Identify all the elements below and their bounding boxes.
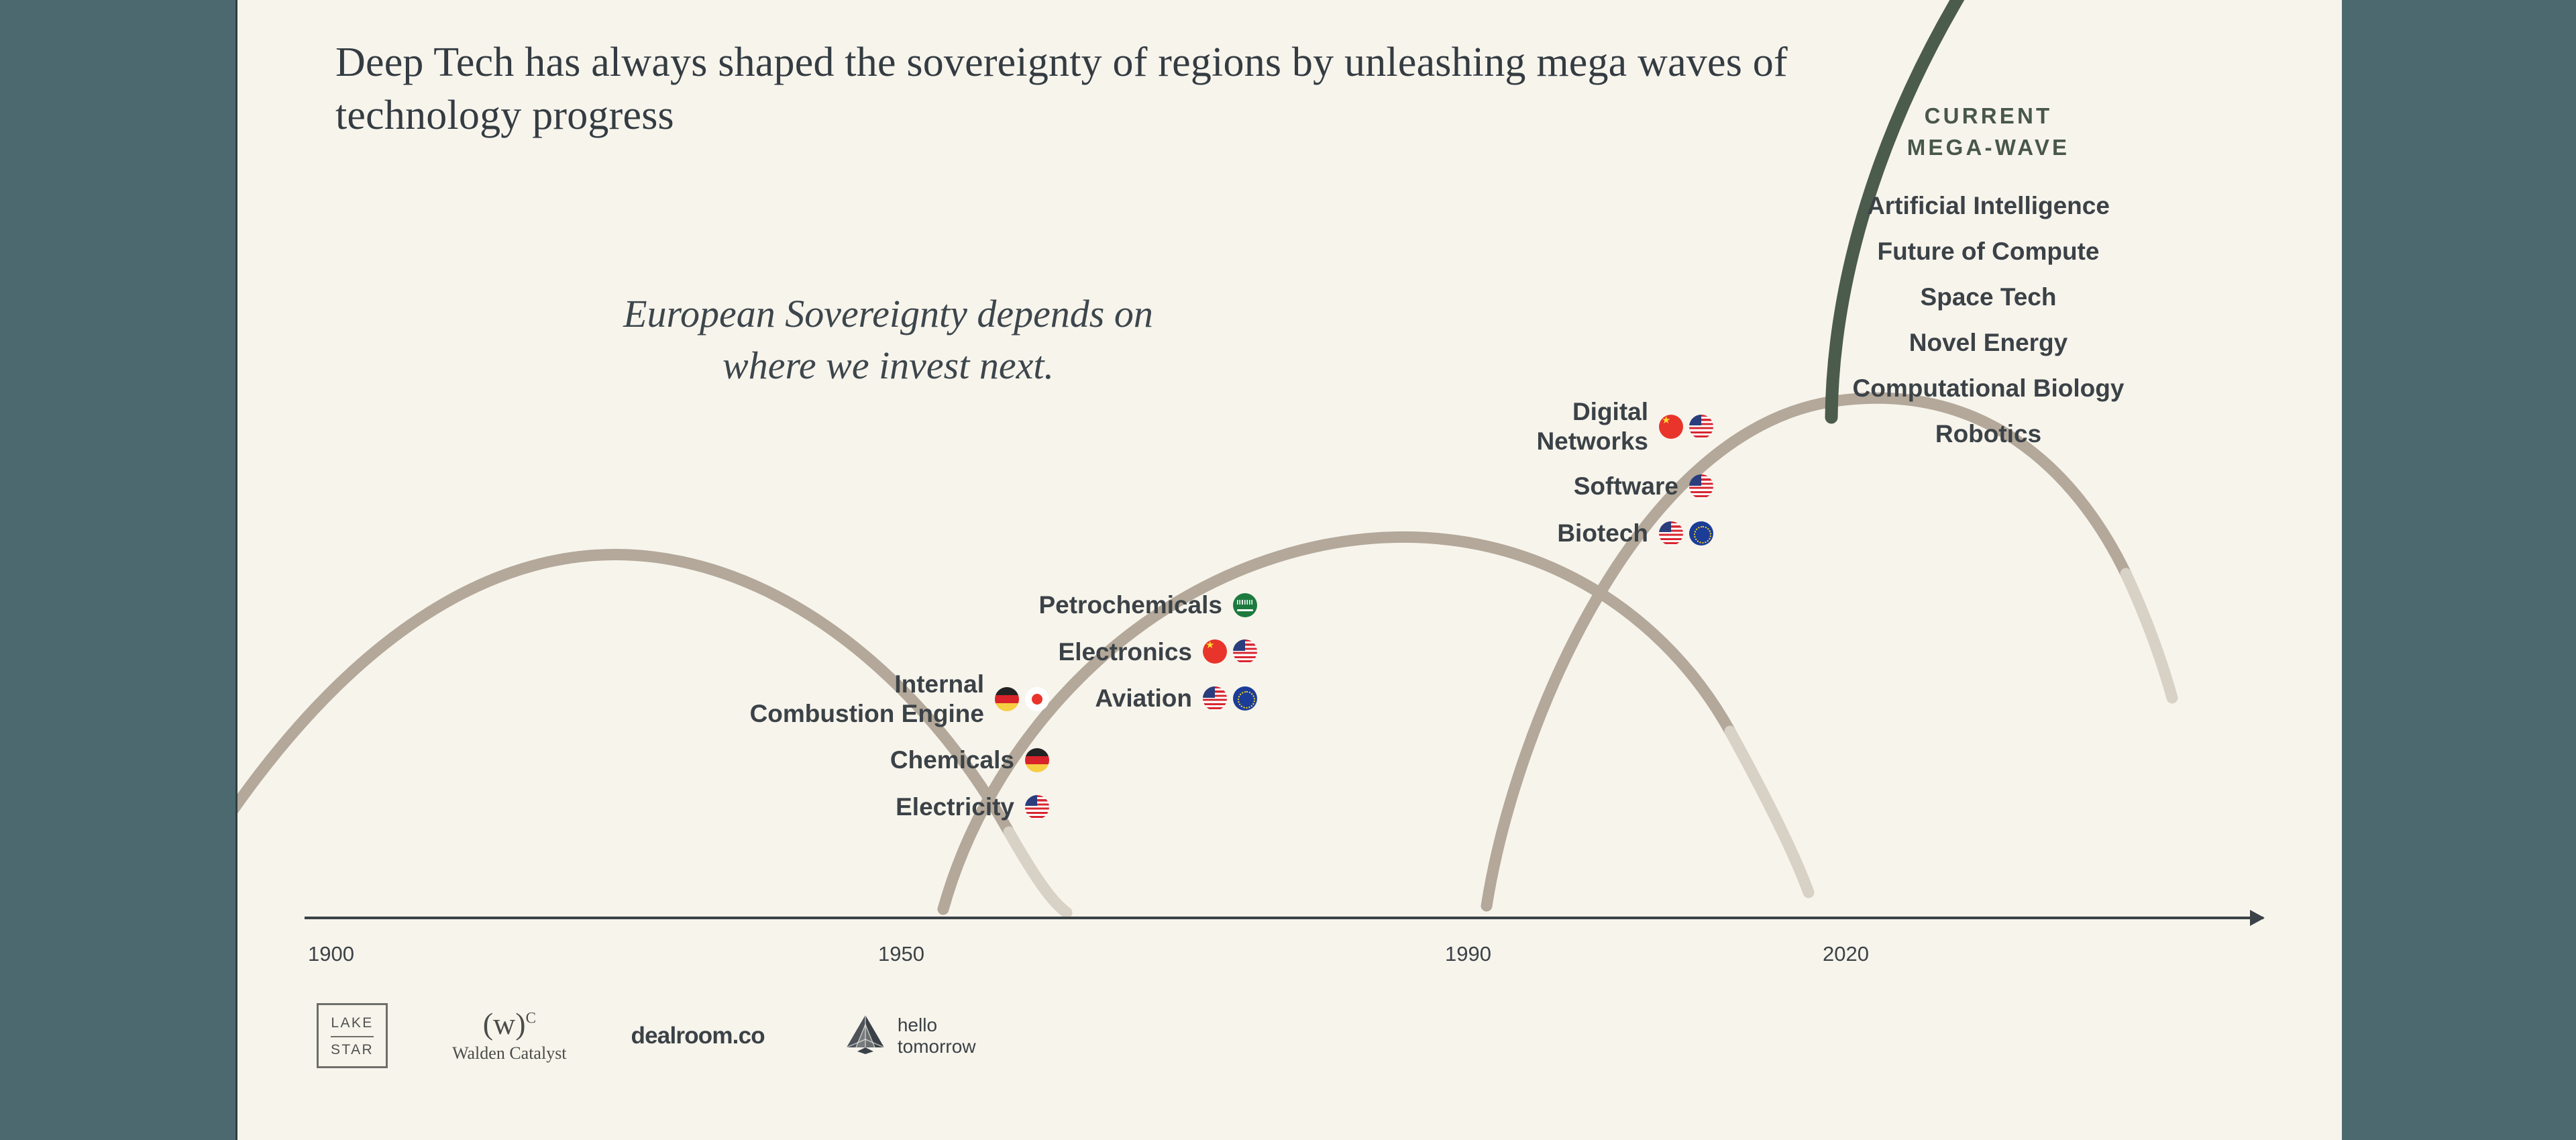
lakestar-logo: LAKE STAR [317, 1003, 388, 1068]
wave-1-flags-chemicals [1025, 748, 1049, 772]
walden-catalyst-mark-icon: (w)C [452, 1008, 566, 1039]
current-megawave-panel: CURRENT MEGA-WAVE Artificial Intelligenc… [1801, 101, 2176, 466]
wave-2-flags-electronics [1203, 639, 1257, 664]
subheadline-line-1: European Sovereignty depends on [439, 289, 1338, 340]
wave-2-label-aviation: Aviation [1095, 684, 1192, 713]
lakestar-logo-divider [331, 1036, 374, 1037]
usa-flag-icon [1659, 521, 1683, 546]
wave-3-flags-digital-networks [1659, 415, 1713, 439]
usa-flag-icon [1233, 639, 1257, 664]
china-flag-icon [1659, 415, 1683, 439]
usa-flag-icon [1203, 686, 1227, 711]
wave-2-row-aviation: Aviation [908, 684, 1257, 713]
eu-flag-icon [1233, 686, 1257, 711]
wave-2-label-petrochemicals: Petrochemicals [1038, 590, 1222, 620]
wave-2-label-group: Petrochemicals Electronics Aviation [908, 590, 1257, 731]
megawave-item-computational-biology: Computational Biology [1801, 374, 2176, 403]
megawave-item-novel-energy: Novel Energy [1801, 329, 2176, 357]
timeline-arrow-icon [2250, 910, 2265, 926]
hello-tomorrow-line-2: tomorrow [898, 1036, 976, 1057]
left-rail [0, 0, 237, 1140]
dealroom-logo: dealroom.co [631, 1023, 765, 1049]
wave-1-tail [1009, 832, 1067, 913]
wave-2-row-petrochemicals: Petrochemicals [908, 590, 1257, 620]
year-label-1990: 1990 [1445, 942, 1491, 966]
content-panel: Deep Tech has always shaped the sovereig… [237, 0, 2342, 1140]
lakestar-logo-line-1: LAKE [331, 1015, 374, 1031]
wave-2-flags-petrochemicals [1233, 593, 1257, 617]
megawave-item-future-of-compute: Future of Compute [1801, 238, 2176, 266]
usa-flag-icon [1689, 415, 1713, 439]
megawave-title-line-1: CURRENT [1801, 101, 2176, 132]
megawave-item-ai: Artificial Intelligence [1801, 192, 2176, 220]
china-flag-icon [1203, 639, 1227, 664]
wave-3-label-biotech: Biotech [1557, 519, 1648, 548]
year-label-1900: 1900 [308, 942, 354, 966]
usa-flag-icon [1689, 474, 1713, 499]
megawave-title-line-2: MEGA-WAVE [1801, 132, 2176, 164]
page-title: Deep Tech has always shaped the sovereig… [335, 36, 1811, 143]
wave-3-tail [2126, 574, 2172, 698]
hello-tomorrow-diamond-icon [844, 1013, 887, 1059]
timeline-axis [305, 917, 2263, 919]
hello-tomorrow-wordmark: hello tomorrow [898, 1015, 976, 1057]
walden-catalyst-name: Walden Catalyst [452, 1043, 566, 1064]
walden-catalyst-logo: (w)C Walden Catalyst [452, 1008, 566, 1064]
hello-tomorrow-line-1: hello [898, 1015, 976, 1035]
wave-3-row-biotech: Biotech [1438, 519, 1713, 548]
wave-1-flags-electricity [1025, 795, 1049, 819]
wave-1-label-chemicals: Chemicals [890, 745, 1014, 775]
subheadline-line-2: where we invest next. [439, 340, 1338, 392]
walden-mark-text: (w) [483, 1006, 526, 1041]
current-megawave-title: CURRENT MEGA-WAVE [1801, 101, 2176, 164]
wave-label-line: Networks [1536, 427, 1648, 456]
wave-label-line: Digital [1536, 397, 1648, 427]
megawave-item-robotics: Robotics [1801, 420, 2176, 448]
year-label-2020: 2020 [1823, 942, 1869, 966]
saudi-arabia-flag-icon [1233, 593, 1257, 617]
wave-1-row-electricity: Electricity [593, 792, 1049, 822]
year-label-1950: 1950 [878, 942, 924, 966]
hello-tomorrow-logo: hello tomorrow [844, 1013, 976, 1059]
wave-3-row-software: Software [1438, 472, 1713, 501]
wave-2-row-electronics: Electronics [908, 637, 1257, 667]
wave-2-label-electronics: Electronics [1059, 637, 1192, 667]
eu-flag-icon [1689, 521, 1713, 546]
germany-flag-icon [1025, 748, 1049, 772]
right-rail [2340, 0, 2576, 1140]
subheadline: European Sovereignty depends on where we… [439, 289, 1338, 391]
lakestar-logo-line-2: STAR [331, 1041, 374, 1058]
megawave-item-space-tech: Space Tech [1801, 283, 2176, 311]
infographic-stage: Deep Tech has always shaped the sovereig… [0, 0, 2576, 1140]
usa-flag-icon [1025, 795, 1049, 819]
wave-3-label-digital-networks: Digital Networks [1536, 397, 1648, 456]
wave-3-label-software: Software [1574, 472, 1678, 501]
wave-3-flags-software [1689, 474, 1713, 499]
timeline-line [305, 917, 2263, 919]
wave-2-tail [1730, 731, 1809, 892]
partner-logos: LAKE STAR (w)C Walden Catalyst dealroom.… [317, 1003, 976, 1068]
wave-2-flags-aviation [1203, 686, 1257, 711]
wave-1-label-electricity: Electricity [896, 792, 1014, 822]
wave-3-row-digital-networks: Digital Networks [1438, 397, 1713, 456]
wave-3-flags-biotech [1659, 521, 1713, 546]
walden-mark-superscript: C [526, 1009, 536, 1026]
wave-1-row-chemicals: Chemicals [593, 745, 1049, 775]
wave-3-label-group: Digital Networks Software Biotech [1438, 397, 1713, 566]
